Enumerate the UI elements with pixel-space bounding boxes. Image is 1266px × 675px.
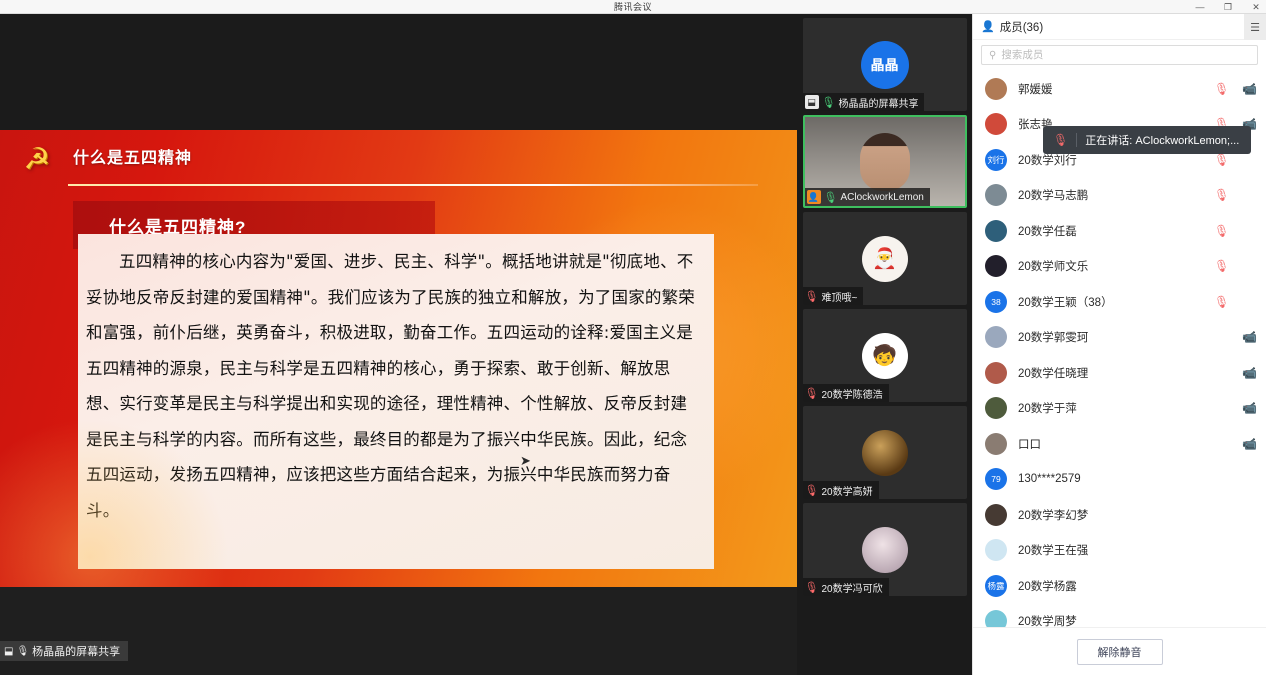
participant-row[interactable]: 3820数学王颖（38）🎙 [973,284,1266,320]
mic-muted-icon[interactable]: 🎙 [1214,188,1228,202]
tile-label-bar: ⬓ 🎙 杨晶晶的屏幕共享 [803,93,925,111]
participant-row[interactable]: 郭媛媛🎙📹 [973,71,1266,107]
participant-name: 20数学刘行 [1018,152,1214,168]
participant-name: 20数学任晓理 [1018,365,1214,381]
party-emblem-icon: ☭ [8,138,66,182]
video-tile[interactable]: 🎙 20数学冯可欣 [803,503,967,596]
participant-status-icons: 📹 [1214,401,1256,415]
share-status-bar: ⬓ 🎙 杨晶晶的屏幕共享 [0,641,128,661]
slide-header-title: 什么是五四精神 [73,144,192,168]
participant-row[interactable]: 79130****2579 [973,462,1266,498]
participant-row[interactable]: 20数学师文乐🎙 [973,249,1266,285]
participant-name: 口口 [1018,436,1214,452]
mic-muted-icon: 🎙 [805,484,819,497]
avatar [985,255,1007,277]
participant-name: 20数学于萍 [1018,400,1214,416]
participant-row[interactable]: 20数学郭雯珂📹 [973,320,1266,356]
screen-share-icon: ⬓ [805,95,819,109]
window-title: 腾讯会议 [614,0,652,13]
participant-row[interactable]: 杨露20数学杨露 [973,568,1266,604]
minimize-icon[interactable]: — [1194,3,1206,12]
avatar [985,362,1007,384]
participant-row[interactable]: 20数学任晓理📹 [973,355,1266,391]
participant-row[interactable]: 20数学马志鹏🎙 [973,178,1266,214]
participant-name: 20数学王在强 [1018,542,1214,558]
participant-row[interactable]: 20数学李幻梦 [973,497,1266,533]
mic-muted-icon: 🎙 [1053,133,1068,147]
avatar [985,539,1007,561]
speaking-tooltip: 🎙 正在讲话: AClockworkLemon;... [1043,126,1251,154]
speaker-icon: 👤 [807,190,821,204]
avatar [985,78,1007,100]
search-icon: ⚲ [989,50,996,61]
avatar [862,527,908,573]
tooltip-text: 正在讲话: AClockworkLemon;... [1085,132,1239,148]
participant-name: 20数学杨露 [1018,578,1214,594]
avatar [985,610,1007,627]
avatar: 38 [985,291,1007,313]
mic-icon: 🎙 [16,646,29,657]
avatar: 刘行 [985,149,1007,171]
video-tile[interactable]: 晶晶 ⬓ 🎙 杨晶晶的屏幕共享 [803,18,967,111]
avatar: 🧒 [862,333,908,379]
avatar [985,433,1007,455]
participant-name: 20数学马志鹏 [1018,187,1214,203]
tile-label-bar: 🎙 20数学高妍 [803,481,879,499]
participant-name: 20数学师文乐 [1018,258,1214,274]
shared-screen-stage[interactable]: ☭ 什么是五四精神 什么是五四精神? 五四精神的核心内容为"爱国、进步、民主、科… [0,14,797,661]
participant-name: 20数学李幻梦 [1018,507,1214,523]
avatar: 杨露 [985,575,1007,597]
panel-title: 成员(36) [1000,19,1043,35]
mic-muted-icon: 🎙 [805,387,819,400]
participant-status-icons: 🎙 [1214,153,1256,167]
video-tile[interactable]: 🧒 🎙 20数学陈德浩 [803,309,967,402]
tile-label: 难顶哦~ [821,289,857,304]
title-divider [68,184,758,186]
slide-body-text: 五四精神的核心内容为"爱国、进步、民主、科学"。概括地讲就是"彻底地、不妥协地反… [86,244,700,528]
participant-name: 130****2579 [1018,473,1214,485]
video-tile[interactable]: 👤 🎙 AClockworkLemon [803,115,967,208]
participant-name: 20数学周梦 [1018,613,1214,627]
avatar [985,326,1007,348]
participant-status-icons: 🎙 [1214,224,1256,238]
participant-status-icons: 📹 [1214,330,1256,344]
avatar [985,113,1007,135]
avatar [985,184,1007,206]
tile-label: 20数学高妍 [821,483,872,498]
mic-muted-icon[interactable]: 🎙 [1214,224,1228,238]
mic-on-icon: 🎙 [824,191,838,204]
tile-label: 杨晶晶的屏幕共享 [838,95,918,110]
participant-name: 20数学王颖（38） [1018,294,1214,310]
search-box[interactable]: ⚲ [981,45,1258,65]
search-container: ⚲ [973,40,1266,69]
stage-footer: ⬓ 🎙 杨晶晶的屏幕共享 [0,587,797,661]
share-status-label: 杨晶晶的屏幕共享 [32,643,120,659]
participant-status-icons: 🎙📹 [1214,82,1256,96]
tile-label-bar: 🎙 20数学陈德浩 [803,384,889,402]
search-input[interactable] [1001,49,1250,61]
participant-row[interactable]: 20数学周梦 [973,604,1266,628]
unmute-button[interactable]: 解除静音 [1077,639,1163,665]
mic-muted-icon: 🎙 [805,290,819,303]
mic-muted-icon[interactable]: 🎙 [1214,82,1228,96]
maximize-icon[interactable]: ❐ [1222,3,1234,12]
screen-share-icon: ⬓ [4,646,13,657]
participant-name: 20数学任磊 [1018,223,1214,239]
window-controls: — ❐ ✕ [1194,0,1262,14]
participant-list[interactable]: 郭媛媛🎙📹张志艳🎙📹刘行20数学刘行🎙20数学马志鹏🎙20数学任磊🎙20数学师文… [973,71,1266,627]
camera-off-icon[interactable]: 📹 [1242,82,1256,96]
participant-status-icons: 🎙 [1214,295,1256,309]
close-icon[interactable]: ✕ [1250,3,1262,12]
presentation-slide: ☭ 什么是五四精神 什么是五四精神? 五四精神的核心内容为"爱国、进步、民主、科… [0,130,797,587]
tile-label-bar: 🎙 20数学冯可欣 [803,578,889,596]
participant-name: 20数学郭雯珂 [1018,329,1214,345]
panel-footer: 解除静音 [973,627,1266,675]
slide-header: ☭ 什么是五四精神 [0,136,797,188]
hamburger-icon[interactable]: ☰ [1244,14,1266,40]
tooltip-divider [1076,133,1077,147]
tile-label: 20数学冯可欣 [821,580,882,595]
panel-header: 👤 成员(36) ☰ [973,14,1266,40]
participant-status-icons: 🎙 [1214,259,1256,273]
avatar [985,220,1007,242]
participant-status-icons: 📹 [1214,366,1256,380]
avatar [862,430,908,476]
person-icon: 👤 [981,20,995,33]
participant-row[interactable]: 20数学任磊🎙 [973,213,1266,249]
mic-muted-icon: 🎙 [805,581,819,594]
participant-status-icons: 📹 [1214,437,1256,451]
avatar [985,397,1007,419]
participant-row[interactable]: 口口📹 [973,426,1266,462]
avatar: 79 [985,468,1007,490]
mouse-cursor-icon: ➤ [520,453,531,469]
avatar: 晶晶 [861,41,909,89]
title-bar: 腾讯会议 — ❐ ✕ [0,0,1266,14]
video-tile-strip[interactable]: 晶晶 ⬓ 🎙 杨晶晶的屏幕共享 👤 🎙 AClockworkLemon 🎅 🎙 … [797,14,972,675]
participant-name: 郭媛媛 [1018,81,1214,97]
mic-muted-icon[interactable]: 🎙 [1214,295,1228,309]
camera-off-icon[interactable]: 📹 [1242,330,1256,344]
camera-off-icon[interactable]: 📹 [1242,437,1256,451]
tile-label-bar: 👤 🎙 AClockworkLemon [805,188,930,206]
tile-label-bar: 🎙 难顶哦~ [803,287,864,305]
camera-off-icon[interactable]: 📹 [1242,366,1256,380]
participant-status-icons: 🎙 [1214,188,1256,202]
camera-off-icon[interactable]: 📹 [1242,401,1256,415]
avatar: 🎅 [862,236,908,282]
participants-panel: 👤 成员(36) ☰ ⚲ 郭媛媛🎙📹张志艳🎙📹刘行20数学刘行🎙20数学马志鹏🎙… [972,14,1266,675]
mic-muted-icon[interactable]: 🎙 [1214,259,1228,273]
tencent-meeting-window: 腾讯会议 — ❐ ✕ ☭ 什么是五四精神 什么是五四精神? 五四精神的核心内容为… [0,0,1266,675]
tile-label: 20数学陈德浩 [821,386,882,401]
tile-label: AClockworkLemon [840,192,923,203]
video-tile[interactable]: 🎅 🎙 难顶哦~ [803,212,967,305]
mic-muted-icon[interactable]: 🎙 [1214,153,1228,167]
slide-body-card: 五四精神的核心内容为"爱国、进步、民主、科学"。概括地讲就是"彻底地、不妥协地反… [78,234,714,569]
avatar [985,504,1007,526]
participant-row[interactable]: 20数学王在强 [973,533,1266,569]
mic-on-icon: 🎙 [822,96,836,109]
video-tile[interactable]: 🎙 20数学高妍 [803,406,967,499]
participant-row[interactable]: 20数学于萍📹 [973,391,1266,427]
